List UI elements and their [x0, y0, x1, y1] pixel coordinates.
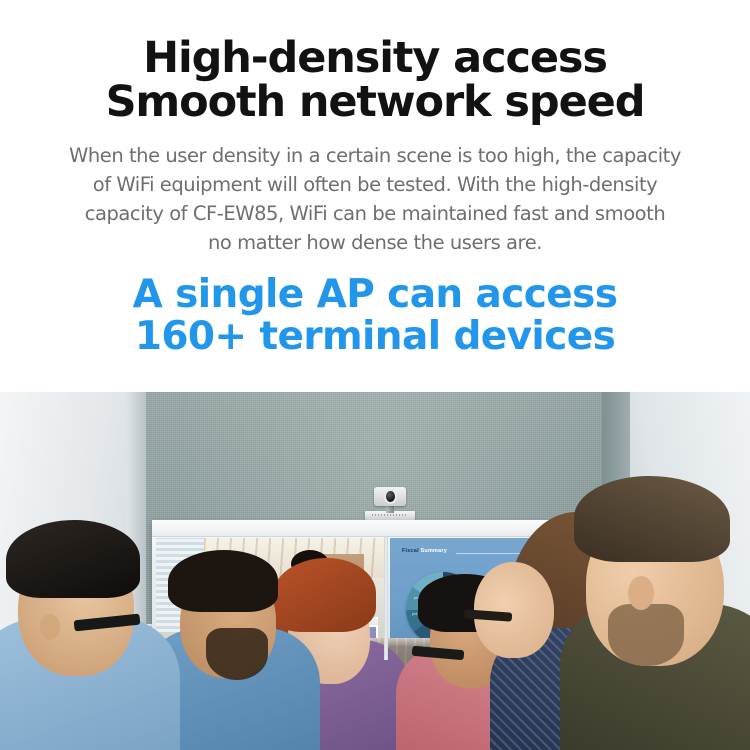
highlight-line-1: A single AP can access — [133, 274, 618, 316]
participant-6-ear — [628, 576, 654, 610]
paragraph-line-3: capacity of CF-EW85, WiFi can be maintai… — [55, 199, 695, 228]
highlight-callout: A single AP can access 160+ terminal dev… — [133, 274, 618, 358]
participant-1-hair — [6, 520, 140, 598]
dashboard-title-light: Summary — [421, 548, 447, 554]
headline-line-1: High-density access — [143, 33, 607, 83]
participant-6-hair — [574, 476, 730, 562]
conference-room-photo: Fiscal Summary net Q4 prd Q3 prd Q2 prt … — [0, 392, 750, 750]
promo-block: High-density access Smooth network speed… — [0, 0, 750, 392]
headline-line-2: Smooth network speed — [106, 80, 645, 124]
highlight-line-2: 160+ terminal devices — [133, 316, 618, 358]
dashboard-title-bold: Fiscal — [402, 548, 419, 554]
participant-1-ear — [40, 614, 60, 640]
paragraph-line-2: of WiFi equipment will often be tested. … — [55, 170, 695, 199]
paragraph-line-4: no matter how dense the users are. — [55, 228, 695, 257]
page-title: High-density access Smooth network speed — [106, 36, 645, 124]
display-seam — [384, 537, 388, 660]
participant-6-beard — [608, 604, 684, 666]
description-paragraph: When the user density in a certain scene… — [55, 141, 695, 257]
camera-lens-icon — [384, 489, 397, 504]
participant-3-hair — [272, 558, 376, 632]
participant-2-beard — [206, 628, 268, 680]
paragraph-line-1: When the user density in a certain scene… — [55, 141, 695, 170]
dashboard-title: Fiscal Summary — [402, 548, 447, 554]
participant-2-hair — [168, 550, 278, 612]
